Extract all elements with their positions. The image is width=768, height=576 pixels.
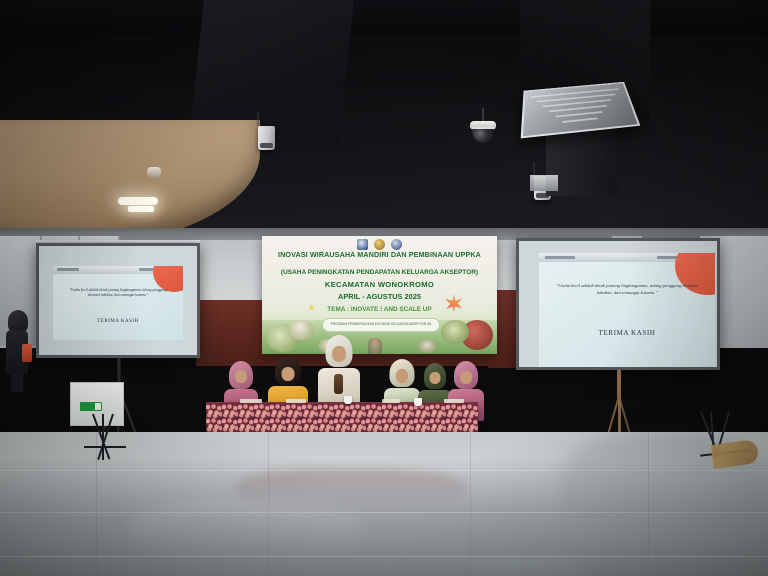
stand-crossbar (84, 446, 126, 448)
right-screen-surface: "Usaha kecil adalah detak jantung lingku… (519, 241, 717, 367)
toolbar-chunk (545, 256, 575, 259)
speaker-wire (534, 162, 535, 176)
institution-logo-icon (391, 239, 402, 250)
folding-stand-left (72, 414, 130, 466)
camera-stem (482, 108, 484, 122)
speaker-wire (258, 112, 259, 126)
face (282, 367, 295, 381)
banner-title-line-3: KECAMATAN WONOKROMO (266, 280, 493, 289)
banner-theme: TEMA : INOVATE ! AND SCALE UP (266, 306, 493, 314)
left-slide: "Usaha kecil adalah detak jantung lingku… (53, 266, 183, 340)
ceiling-downlight (118, 197, 158, 205)
left-projector-screen: "Usaha kecil adalah detak jantung lingku… (36, 243, 200, 358)
face (460, 371, 472, 384)
face (332, 346, 346, 362)
toolbar-chunk (57, 268, 79, 271)
ceiling-lamp (128, 206, 154, 212)
stand-leg (102, 414, 104, 460)
tripod-mast (617, 370, 621, 398)
legs (11, 372, 23, 392)
dome-security-camera-icon (470, 108, 496, 142)
smoke-detector (147, 167, 161, 178)
left-screen-surface: "Usaha kecil adalah detak jantung lingku… (39, 246, 197, 355)
paper-document (444, 399, 464, 403)
city-emblem-logo-icon (357, 239, 368, 250)
right-slide: "Usaha kecil adalah detak jantung lingku… (539, 253, 715, 367)
photo-scene: INOVASI WIRAUSAHA MANDIRI DAN PEMBINAAN … (0, 0, 768, 576)
speaker-body (258, 126, 275, 150)
microphone (334, 374, 343, 394)
face (396, 369, 408, 383)
slide-quote-text: "Usaha kecil adalah detak jantung lingku… (553, 283, 701, 296)
paper-document (286, 399, 306, 403)
wall-vent (530, 175, 558, 191)
floor-light-reflection (470, 560, 590, 576)
paper-document (382, 399, 400, 403)
drinking-cup (344, 396, 352, 404)
paper-document (240, 399, 262, 403)
slide-closing-text: TERIMA KASIH (539, 329, 715, 337)
bystander-far-left (4, 310, 30, 392)
emergency-exit-sign (80, 402, 102, 411)
floor-tile-line (0, 556, 768, 557)
hijab (8, 310, 28, 332)
slide-quote-text: "Usaha kecil adalah detak jantung lingku… (65, 288, 171, 298)
floor-light-reflection (130, 500, 360, 560)
floor-tile-line (470, 432, 471, 576)
banner-title-line-1: INOVASI WIRAUSAHA MANDIRI DAN PEMBINAAN … (266, 250, 493, 259)
bag (22, 344, 32, 362)
face (430, 372, 441, 384)
bkkbn-gold-logo-icon (374, 239, 385, 250)
right-projector-screen: "Usaha kecil adalah detak jantung lingku… (516, 238, 720, 370)
ceiling-beam (0, 0, 768, 34)
banner-pill-text: PROGRAM PEMBERDAYAAN EKONOMI KELUARGA AK… (322, 318, 440, 332)
face (235, 370, 247, 383)
banner-title-line-2: (USAHA PENINGKATAN PENDAPATAN KELUARGA A… (266, 269, 493, 277)
slide-closing-text: TERIMA KASIH (53, 319, 183, 324)
drinking-cup (414, 398, 422, 406)
camera-dome (472, 127, 494, 143)
